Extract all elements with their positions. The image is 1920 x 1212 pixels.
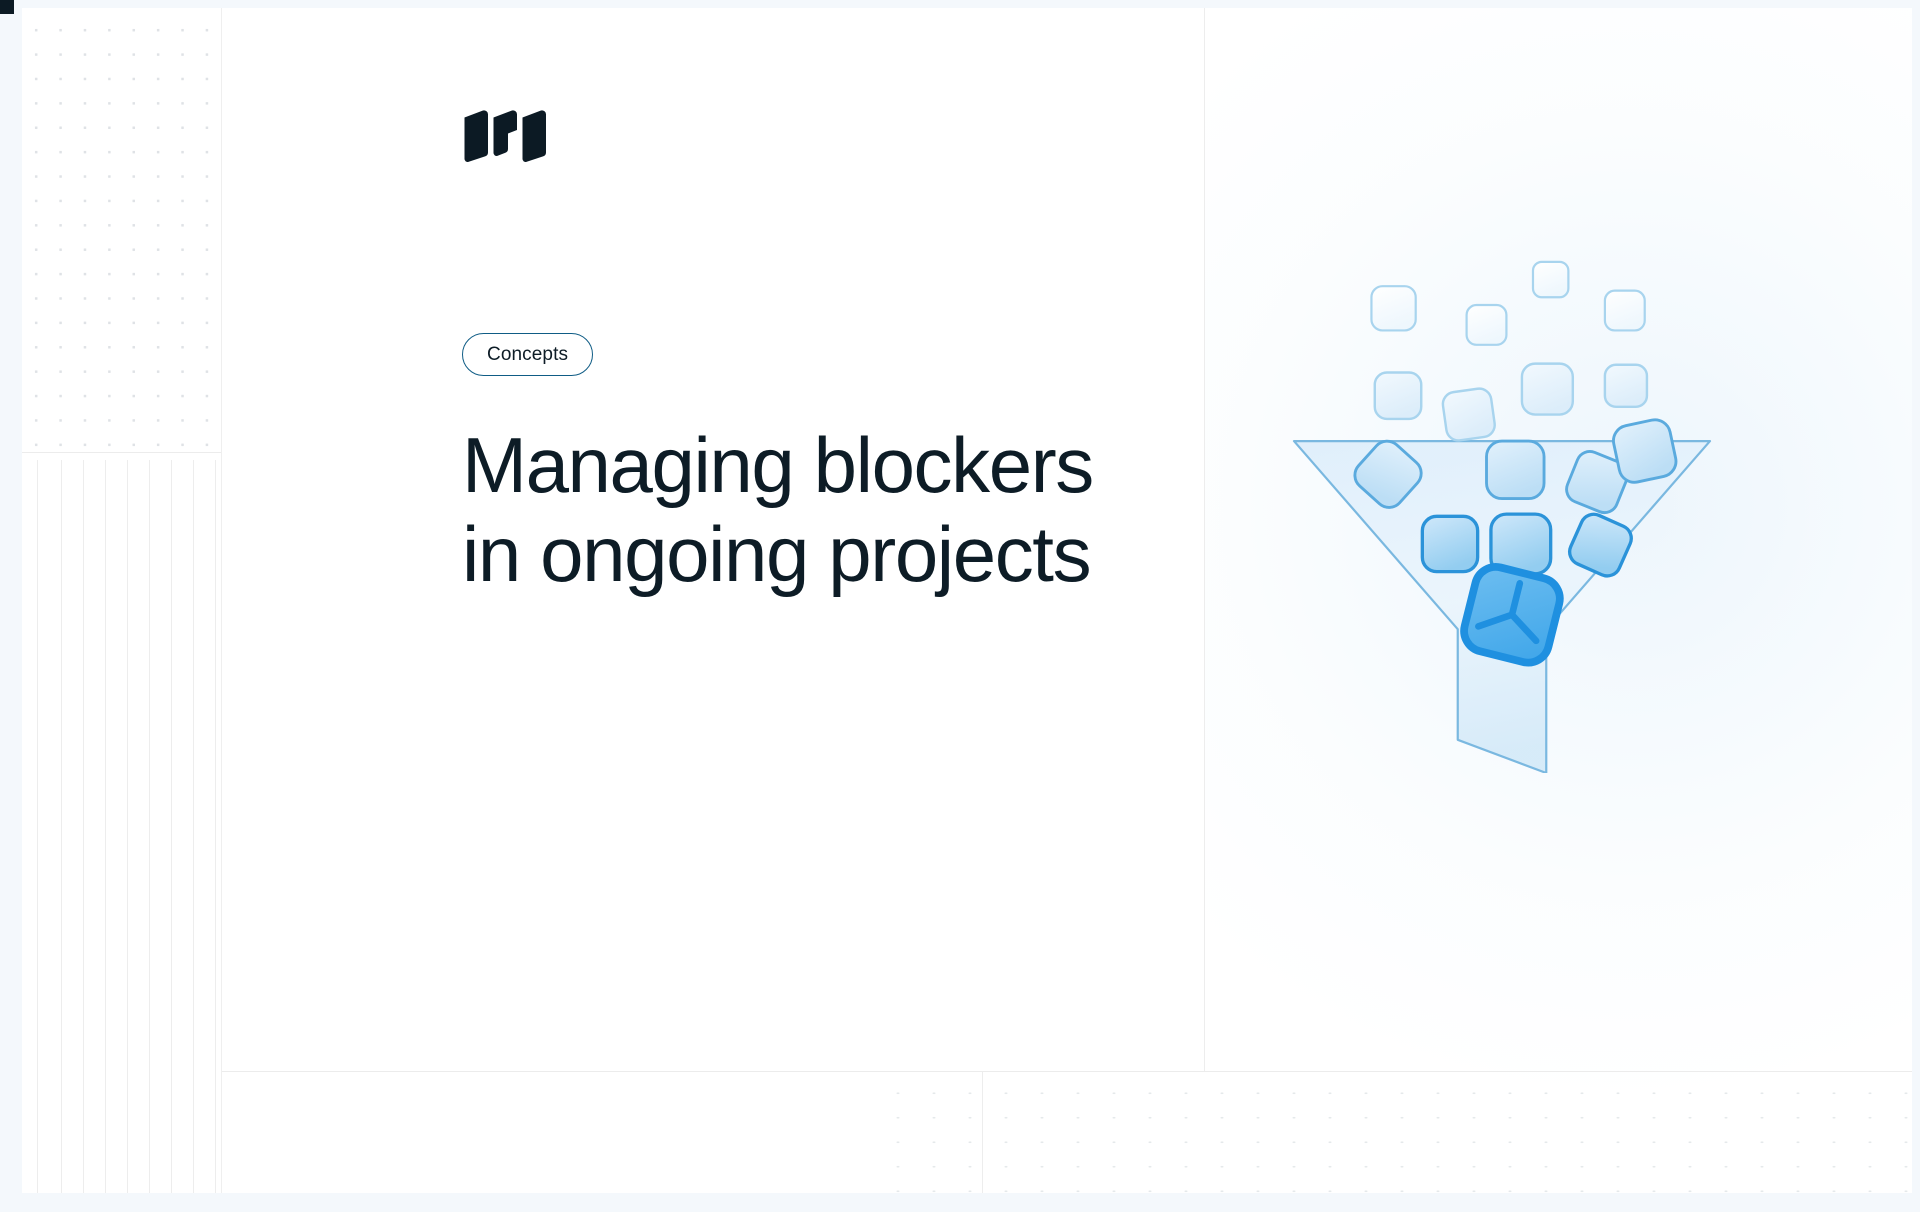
category-badge-concepts[interactable]: Concepts xyxy=(462,333,593,376)
block-square xyxy=(1375,372,1421,418)
block-square xyxy=(1422,516,1477,571)
page-title: Managing blockers in ongoing projects xyxy=(462,421,1162,599)
page-root: Concepts Managing blockers in ongoing pr… xyxy=(0,0,1920,1212)
page-title-line-2: in ongoing projects xyxy=(462,510,1090,598)
block-square xyxy=(1533,262,1568,297)
block-square xyxy=(1467,305,1507,345)
bottom-vertical-divider xyxy=(982,1072,983,1193)
block-square xyxy=(1605,291,1645,331)
corner-marker-icon xyxy=(0,0,14,14)
gem-cube-icon xyxy=(1460,562,1565,667)
stacked-blocks-logo[interactable] xyxy=(462,108,548,162)
block-square xyxy=(1371,286,1415,330)
rail-divider xyxy=(22,452,222,453)
vertical-stripes-pattern xyxy=(22,460,222,1193)
block-square xyxy=(1611,417,1679,485)
dot-grid-pattern xyxy=(22,8,222,452)
funnel-illustration xyxy=(1262,253,1742,773)
block-square xyxy=(1605,365,1647,407)
block-square xyxy=(1522,364,1573,415)
vertical-divider xyxy=(1204,8,1205,1071)
bottom-dot-grid-pattern xyxy=(870,1072,1912,1193)
block-square xyxy=(1441,387,1496,442)
block-square xyxy=(1487,441,1545,499)
main-card: Concepts Managing blockers in ongoing pr… xyxy=(222,8,1912,1193)
hero-copy-block: Concepts Managing blockers in ongoing pr… xyxy=(462,333,1162,599)
page-title-line-1: Managing blockers xyxy=(462,421,1093,509)
left-decorative-rail xyxy=(22,8,222,1193)
